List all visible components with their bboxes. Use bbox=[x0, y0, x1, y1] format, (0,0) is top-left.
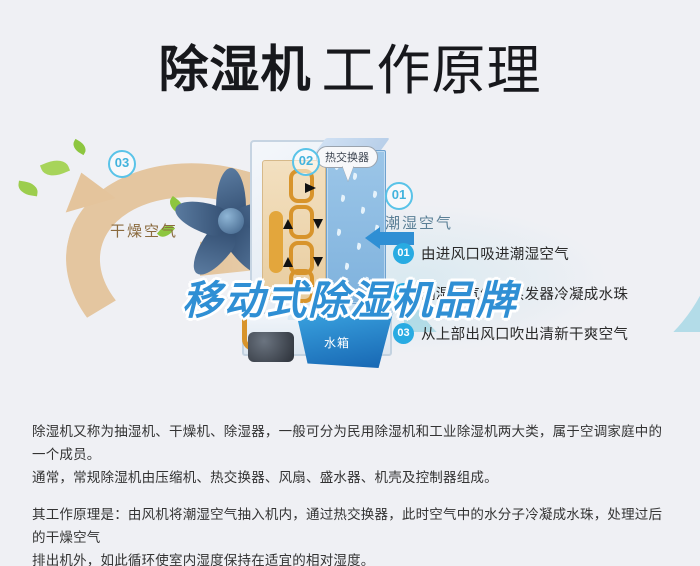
step-badge-01: 01 bbox=[393, 243, 414, 264]
list-item: 03 从上部出风口吹出清新干爽空气 bbox=[393, 323, 693, 344]
infographic-page: 除湿机工作原理 bbox=[0, 0, 700, 566]
step-text-03: 从上部出风口吹出清新干爽空气 bbox=[421, 323, 628, 344]
dry-air-label: 干燥空气 bbox=[110, 220, 178, 241]
paragraph-1-line-1: 除湿机又称为抽湿机、干燥机、除湿器，一般可分为民用除湿机和工业除湿机两大类，属于… bbox=[32, 420, 672, 466]
step-text-02: 潮湿空气经过蒸发器冷凝成水珠 bbox=[421, 283, 628, 304]
water-tank-label: 水箱 bbox=[324, 334, 350, 351]
body-copy: 除湿机又称为抽湿机、干燥机、除湿器，一般可分为民用除湿机和工业除湿机两大类，属于… bbox=[32, 420, 672, 566]
refrigerant-tube bbox=[269, 211, 283, 273]
step-badge-03: 03 bbox=[393, 323, 414, 344]
paragraph-2-line-1: 其工作原理是：由风机将潮湿空气抽入机内，通过热交换器，此时空气中的水分子冷凝成水… bbox=[32, 503, 672, 549]
compressor bbox=[248, 332, 294, 362]
title-part-two: 工作原理 bbox=[322, 39, 542, 102]
step-text-01: 由进风口吸进潮湿空气 bbox=[421, 243, 569, 264]
paragraph-spacer bbox=[32, 489, 672, 503]
step-badge-02: 02 bbox=[393, 283, 414, 304]
diagram-marker-02: 02 bbox=[292, 148, 320, 176]
heat-exchanger-callout: 热交换器 bbox=[316, 146, 378, 168]
list-item: 02 潮湿空气经过蒸发器冷凝成水珠 bbox=[393, 283, 693, 304]
paragraph-2-line-2: 排出机外，如此循环使室内湿度保持在适宜的相对湿度。 bbox=[32, 549, 672, 566]
callout-tail bbox=[342, 165, 354, 181]
list-item: 01 由进风口吸进潮湿空气 bbox=[393, 243, 693, 264]
diagram-marker-01: 01 bbox=[385, 182, 413, 210]
paragraph-1-line-2: 通常，常规除湿机由压缩机、热交换器、风扇、盛水器、机壳及控制器组成。 bbox=[32, 466, 672, 489]
diagram-marker-03: 03 bbox=[108, 150, 136, 178]
humid-air-label: 潮湿空气 bbox=[385, 212, 453, 233]
condenser-coil-panel bbox=[262, 160, 326, 300]
title-part-one: 除湿机 bbox=[159, 41, 312, 99]
steps-list: 01 由进风口吸进潮湿空气 02 潮湿空气经过蒸发器冷凝成水珠 03 从上部出风… bbox=[393, 243, 693, 363]
page-title: 除湿机工作原理 bbox=[0, 26, 700, 105]
